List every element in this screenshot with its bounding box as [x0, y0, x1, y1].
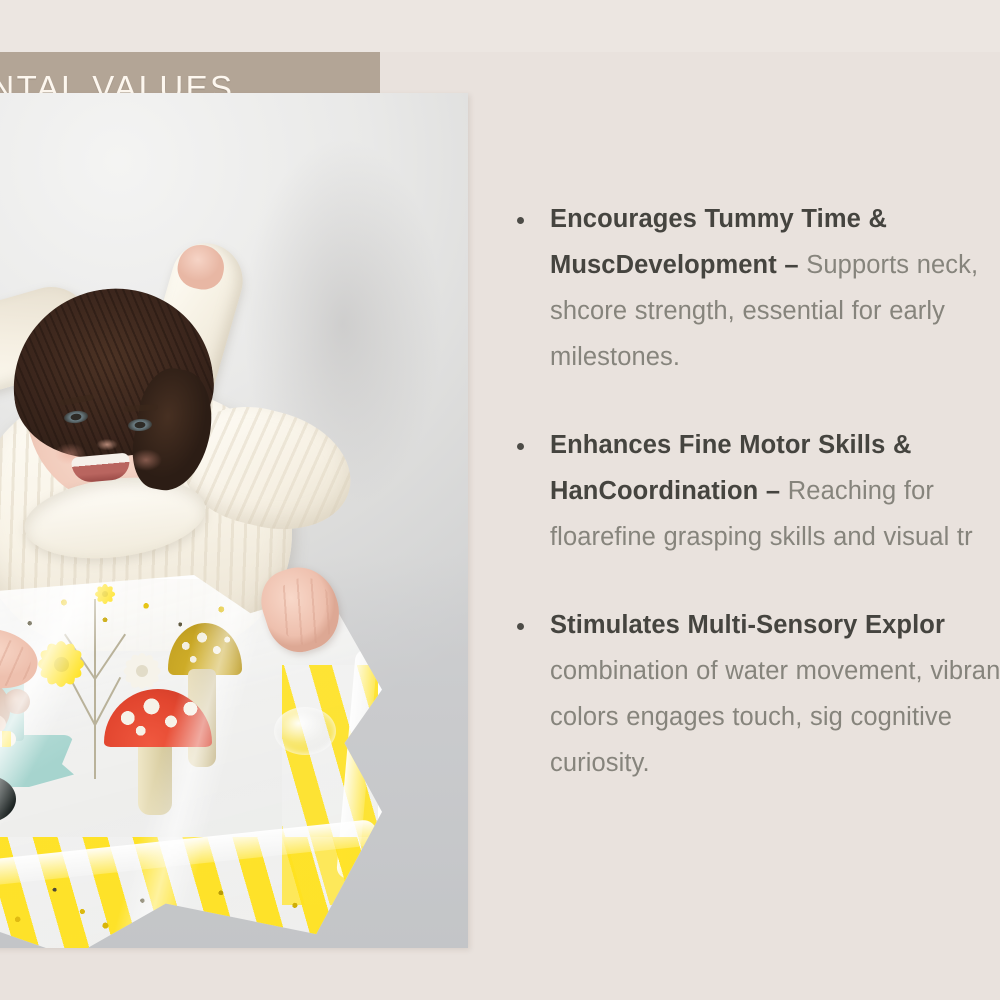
bullet-dot-icon	[517, 623, 524, 630]
bullet-lead-1b: Development –	[616, 251, 799, 279]
bullet-rest-1c: milestones.	[550, 343, 680, 371]
list-item: Stimulates Multi-Sensory Explor combinat…	[508, 602, 1000, 786]
bullet-body-1: Encourages Tummy Time & MuscDevelopment …	[550, 196, 1000, 380]
bullet-body-2: Enhances Fine Motor Skills & HanCoordina…	[550, 422, 1000, 560]
bullet-rest-2b: refine grasping skills and visual tr	[592, 523, 973, 551]
bullet-lead-3a: Stimulates Multi-Sensory Explor	[550, 611, 945, 639]
list-item: Enhances Fine Motor Skills & HanCoordina…	[508, 422, 1000, 560]
list-item: Encourages Tummy Time & MuscDevelopment …	[508, 196, 1000, 380]
slide-canvas: ENTAL VALUES	[0, 0, 1000, 1000]
bullet-rest-3a: combination of water movement,	[550, 657, 923, 685]
bullet-dot-icon	[517, 443, 524, 450]
product-photo	[0, 93, 468, 948]
baby-cheek-right	[124, 445, 168, 475]
bullet-body-3: Stimulates Multi-Sensory Explor combinat…	[550, 602, 1000, 786]
top-strip	[0, 0, 1000, 52]
benefits-list: Encourages Tummy Time & MuscDevelopment …	[508, 196, 1000, 786]
bullet-rest-1b: core strength, essential for early	[577, 297, 945, 325]
baby-nose	[92, 435, 122, 451]
bullet-dot-icon	[517, 217, 524, 224]
bullet-lead-2b: Coordination –	[598, 477, 780, 505]
